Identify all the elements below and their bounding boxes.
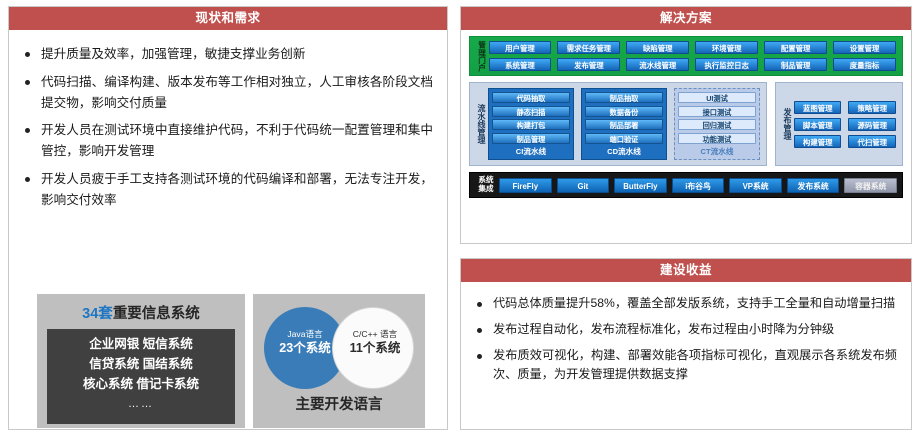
solution-panel: 解决方案 管理门户 用户管理 需求任务管理 缺陷管理 环境管理 配置管理 设置管… [460,6,912,244]
portal-chip[interactable]: 流水线管理 [626,58,689,71]
pipeline-name: CI流水线 [492,146,570,157]
integration-chip[interactable]: i布谷鸟 [672,178,725,193]
integration-chip[interactable]: 发布系统 [787,178,840,193]
system-row: 核心系统 借记卡系统 [83,375,199,395]
system-integration-block: 系统集成 FireFly Git ButterFly i布谷鸟 VP系统 发布系… [469,172,903,197]
pipeline-step[interactable]: 功能测试 [678,133,756,144]
benefits-panel: 建设收益 代码总体质量提升58%，覆盖全部发版系统，支持手工全量和自动增量扫描 … [460,258,912,430]
pipeline-management-label: 流水线管理 [473,104,488,144]
portal-chip[interactable]: 度量指标 [833,58,896,71]
portal-chip[interactable]: 需求任务管理 [557,41,620,54]
cpp-language-name: C/C++ 语言 [336,329,414,340]
important-systems-card: 34套重要信息系统 企业网银 短信系统 信贷系统 国结系统 核心系统 借记卡系统… [37,294,245,428]
list-item: 开发人员疲于手工支持各测试环境的代码编译和部署，无法专注开发，影响交付效率 [19,169,433,211]
venn-diagram: Java语言 23个系统 C/C++ 语言 11个系统 [264,307,414,389]
pipeline-step[interactable]: 代码抽取 [492,92,570,103]
languages-card: Java语言 23个系统 C/C++ 语言 11个系统 主要开发语言 [253,294,425,428]
pipeline-step[interactable]: 构建打包 [492,119,570,130]
pipeline-name: CT流水线 [678,146,756,157]
release-chip[interactable]: 脚本管理 [794,118,842,131]
list-item: 提升质量及效率，加强管理，敏捷支撑业务创新 [19,44,433,65]
solution-title: 解决方案 [461,7,911,30]
release-chip[interactable]: 源码管理 [848,118,896,131]
integration-chip[interactable]: 容器系统 [844,178,897,193]
portal-chip[interactable]: 设置管理 [833,41,896,54]
systems-count: 34套 [82,306,113,322]
release-management-grid: 蓝图管理 策略管理 脚本管理 源码管理 构建管理 代扫管理 [794,101,896,148]
portal-chip[interactable]: 缺陷管理 [626,41,689,54]
portal-chip[interactable]: 系统管理 [489,58,552,71]
management-portal-block: 管理门户 用户管理 需求任务管理 缺陷管理 环境管理 配置管理 设置管理 系统管… [469,36,903,76]
list-item: 代码总体质量提升58%，覆盖全部发版系统，支持手工全量和自动增量扫描 [471,294,897,314]
systems-title-rest: 重要信息系统 [113,306,200,322]
important-systems-title: 34套重要信息系统 [47,302,235,323]
integration-chip[interactable]: ButterFly [614,178,667,193]
pipeline-step[interactable]: 静态扫描 [492,106,570,117]
list-item: 发布过程自动化，发布流程标准化，发布过程由小时降为分钟级 [471,320,897,340]
solution-middle-band: 流水线管理 代码抽取 静态扫描 构建打包 制品管理 CI流水线 制品抽取 数据备… [469,82,903,166]
benefits-body: 代码总体质量提升58%，覆盖全部发版系统，支持手工全量和自动增量扫描 发布过程自… [461,282,911,385]
venn-label-cpp: C/C++ 语言 11个系统 [336,329,414,357]
release-management-block: 发布管理 蓝图管理 策略管理 脚本管理 源码管理 构建管理 代扫管理 [775,82,903,166]
portal-chip[interactable]: 配置管理 [764,41,827,54]
pipeline-step[interactable]: 端口验证 [585,133,663,144]
management-portal-label: 管理门户 [474,41,489,71]
current-status-title: 现状和需求 [9,7,447,30]
release-chip[interactable]: 构建管理 [794,135,842,148]
venn-label-java: Java语言 23个系统 [266,329,344,357]
benefits-title: 建设收益 [461,259,911,282]
system-integration-grid: FireFly Git ButterFly i布谷鸟 VP系统 发布系统 容器系… [499,178,897,193]
java-system-count: 23个系统 [266,340,344,357]
system-row: 企业网银 短信系统 [89,335,192,355]
release-chip[interactable]: 蓝图管理 [794,101,842,114]
pipeline-step[interactable]: 制品管理 [492,133,570,144]
system-name-box: 企业网银 短信系统 信贷系统 国结系统 核心系统 借记卡系统 …… [47,329,235,424]
integration-chip[interactable]: Git [557,178,610,193]
pipeline-management-block: 流水线管理 代码抽取 静态扫描 构建打包 制品管理 CI流水线 制品抽取 数据备… [469,82,767,166]
pipeline-step[interactable]: 接口测试 [678,106,756,117]
java-language-name: Java语言 [266,329,344,340]
system-integration-label: 系统集成 [473,176,499,193]
current-status-body: 提升质量及效率，加强管理，敏捷支撑业务创新 代码扫描、编译构建、版本发布等工作相… [9,30,447,210]
pipeline-columns: 代码抽取 静态扫描 构建打包 制品管理 CI流水线 制品抽取 数据备份 制品部署… [488,88,760,160]
cpp-system-count: 11个系统 [336,340,414,357]
solution-body: 管理门户 用户管理 需求任务管理 缺陷管理 环境管理 配置管理 设置管理 系统管… [461,30,911,204]
current-status-bullet-list: 提升质量及效率，加强管理，敏捷支撑业务创新 代码扫描、编译构建、版本发布等工作相… [19,44,433,210]
release-management-label: 发布管理 [779,108,794,140]
pipeline-step[interactable]: 制品抽取 [585,92,663,103]
languages-caption: 主要开发语言 [296,393,383,414]
list-item: 代码扫描、编译构建、版本发布等工作相对独立，人工审核各阶段文档提交物，影响交付质… [19,72,433,114]
management-portal-grid: 用户管理 需求任务管理 缺陷管理 环境管理 配置管理 设置管理 系统管理 发布管… [489,41,897,71]
pipeline-step[interactable]: 数据备份 [585,106,663,117]
current-status-panel: 现状和需求 提升质量及效率，加强管理，敏捷支撑业务创新 代码扫描、编译构建、版本… [8,6,448,430]
pipeline-step[interactable]: UI测试 [678,92,756,103]
release-chip[interactable]: 代扫管理 [848,135,896,148]
pipeline-name: CD流水线 [585,146,663,157]
cd-pipeline-column: 制品抽取 数据备份 制品部署 端口验证 CD流水线 [581,88,667,160]
list-item: 开发人员在测试环境中直接维护代码，不利于代码统一配置管理和集中管控，影响开发管理 [19,120,433,162]
pipeline-step[interactable]: 制品部署 [585,119,663,130]
pipeline-step[interactable]: 回归测试 [678,119,756,130]
benefits-bullet-list: 代码总体质量提升58%，覆盖全部发版系统，支持手工全量和自动增量扫描 发布过程自… [471,294,897,385]
portal-chip[interactable]: 发布管理 [557,58,620,71]
portal-chip[interactable]: 执行监控日志 [695,58,758,71]
stats-strip: 34套重要信息系统 企业网银 短信系统 信贷系统 国结系统 核心系统 借记卡系统… [37,294,425,428]
ct-pipeline-column: UI测试 接口测试 回归测试 功能测试 CT流水线 [674,88,760,160]
system-row: 信贷系统 国结系统 [89,355,192,375]
integration-chip[interactable]: VP系统 [729,178,782,193]
portal-chip[interactable]: 用户管理 [489,41,552,54]
portal-chip[interactable]: 环境管理 [695,41,758,54]
list-item: 发布质效可视化，构建、部署效能各项指标可视化，直观展示各系统发布频次、质量，为开… [471,346,897,386]
release-chip[interactable]: 策略管理 [848,101,896,114]
ci-pipeline-column: 代码抽取 静态扫描 构建打包 制品管理 CI流水线 [488,88,574,160]
ellipsis-text: …… [128,398,154,410]
integration-chip[interactable]: FireFly [499,178,552,193]
portal-chip[interactable]: 制品管理 [764,58,827,71]
